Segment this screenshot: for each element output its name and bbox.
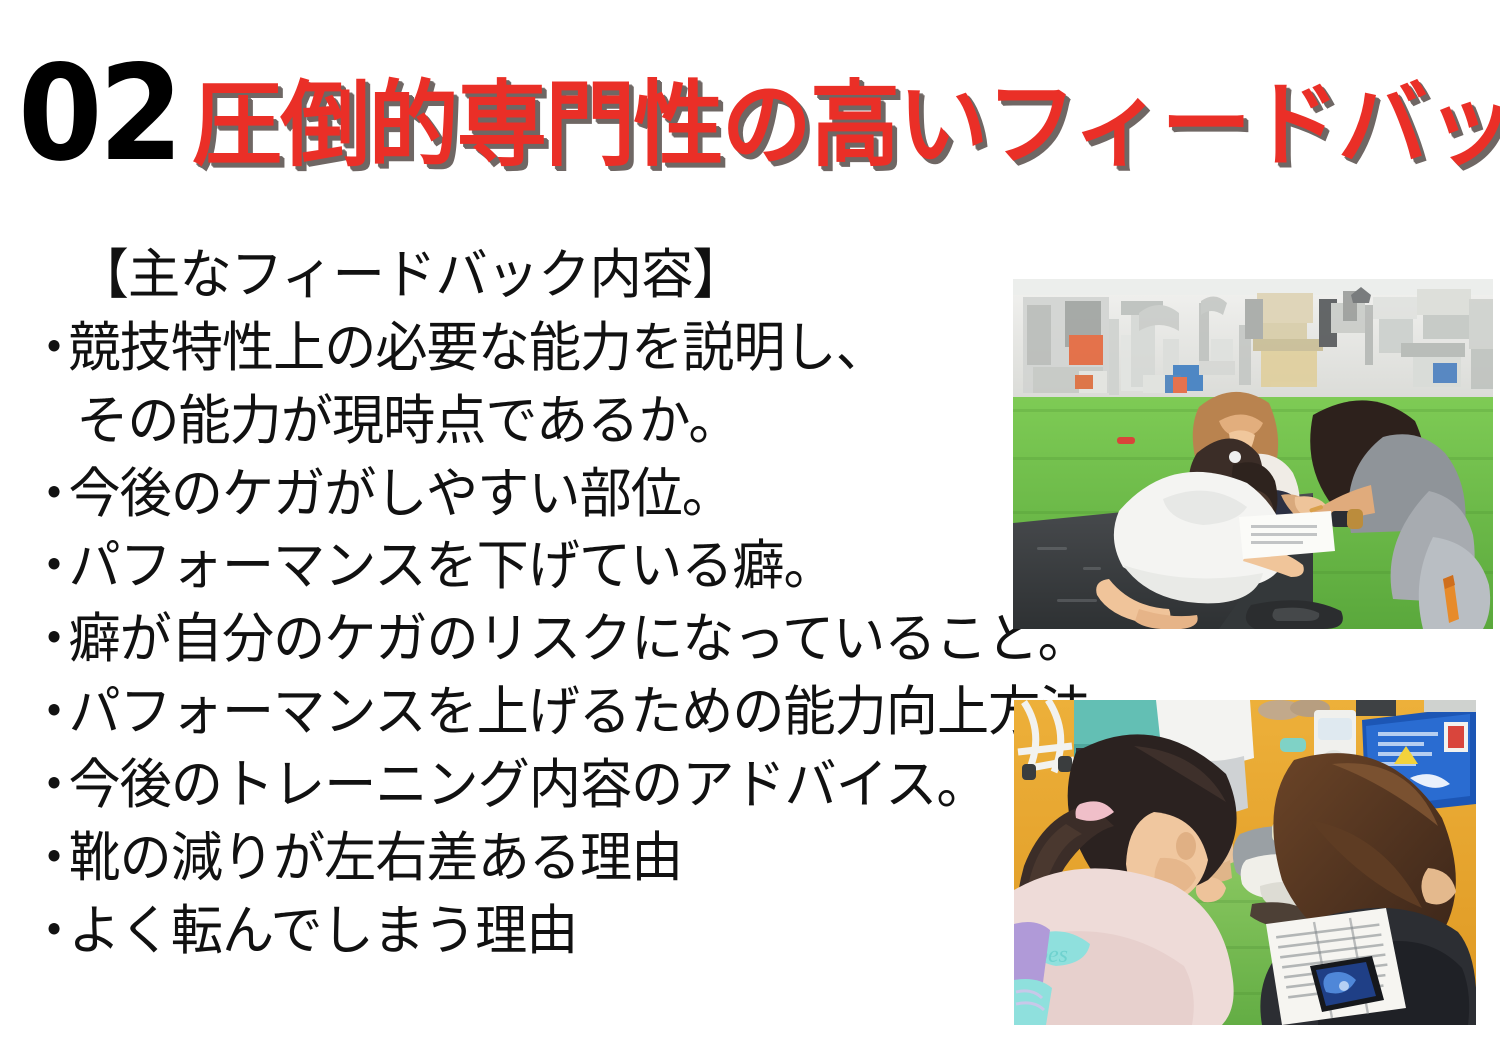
- title-main-text: 圧倒的専門性の高いフィードバック: [192, 79, 1500, 176]
- list-item: ・ 今後のケガがしやすい部位。: [28, 458, 974, 531]
- list-item-label: 今後のケガがしやすい部位。: [69, 458, 733, 531]
- list-item-label: 靴の減りが左右差ある理由: [69, 822, 683, 895]
- list-item-label: 競技特性上の必要な能力を説明し、: [69, 312, 887, 385]
- list-item: ・ 競技特性上の必要な能力を説明し、: [28, 312, 974, 385]
- list-item: ・ 靴の減りが左右差ある理由: [28, 822, 974, 895]
- bullet-icon: ・: [28, 530, 69, 603]
- list-item-label: パフォーマンスを下げている癖。: [69, 530, 835, 603]
- list-item: ・ よく転んでしまう理由: [28, 895, 974, 968]
- bullet-icon: ・: [28, 603, 69, 676]
- slide-title: 02 圧倒的専門性の高いフィードバック: [18, 26, 1488, 176]
- bullet-icon: ・: [28, 895, 69, 968]
- feedback-content-block: 【主なフィードバック内容】 ・ 競技特性上の必要な能力を説明し、 その能力が現時…: [28, 240, 1008, 968]
- bullet-icon: ・: [28, 822, 69, 895]
- bullet-icon: ・: [28, 676, 69, 749]
- bullet-icon: ・: [28, 749, 69, 822]
- list-item: ・ 癖が自分のケガのリスクになっていること。: [28, 603, 974, 676]
- list-item: ・ パフォーマンスを下げている癖。: [28, 530, 974, 603]
- list-item: ・ 今後のトレーニング内容のアドバイス。: [28, 749, 974, 822]
- list-item-label: 今後のトレーニング内容のアドバイス。: [69, 749, 988, 822]
- list-item-continuation: その能力が現時点であるか。: [28, 385, 974, 458]
- bullet-icon: ・: [28, 312, 69, 385]
- list-item-label: パフォーマンスを上げるための能力向上方法。: [69, 676, 1142, 749]
- list-item-label: 癖が自分のケガのリスクになっていること。: [69, 603, 1089, 676]
- list-item-label: よく転んでしまう理由: [69, 895, 578, 968]
- photo-gym-assessment-artwork: [1013, 279, 1493, 629]
- title-number: 02: [18, 53, 180, 176]
- photo-counseling-clipboard: bes: [1014, 700, 1476, 1025]
- photo-gym-assessment: [1013, 279, 1493, 629]
- feedback-heading: 【主なフィードバック内容】: [28, 240, 979, 312]
- list-item-label: その能力が現時点であるか。: [76, 385, 739, 458]
- list-item: ・ パフォーマンスを上げるための能力向上方法。: [28, 676, 974, 749]
- photo-counseling-clipboard-artwork: bes: [1014, 700, 1476, 1025]
- bullet-icon: ・: [28, 458, 69, 531]
- slide-root: 02 圧倒的専門性の高いフィードバック 【主なフィードバック内容】 ・ 競技特性…: [0, 0, 1500, 1060]
